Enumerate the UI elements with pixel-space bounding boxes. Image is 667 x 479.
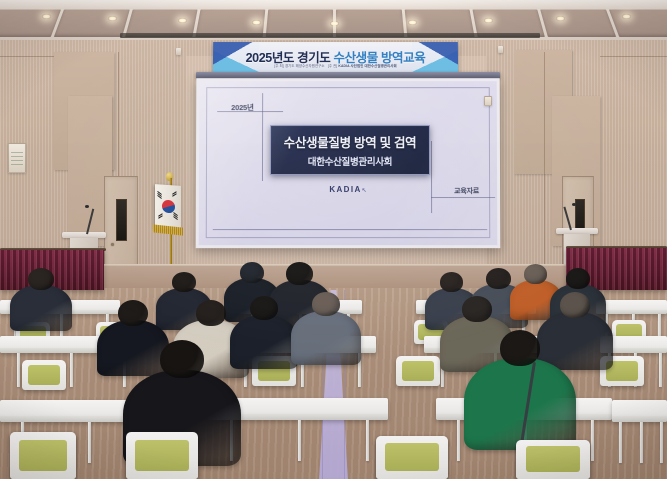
downlight-4	[252, 20, 261, 25]
attendee-head	[160, 340, 204, 378]
downlight-2	[108, 16, 117, 21]
desk-leg	[298, 420, 301, 461]
attendee-head	[524, 264, 547, 284]
attendee-torso	[230, 315, 298, 369]
desk-leg	[640, 422, 643, 463]
attendee-head	[172, 272, 196, 292]
wall-switch-right[interactable]	[484, 96, 492, 106]
chair-seat-pad	[19, 440, 68, 471]
ceiling-soffit	[0, 0, 667, 9]
attendee-head	[486, 268, 511, 289]
attendee-head	[240, 262, 264, 283]
downlight-8	[556, 16, 565, 21]
banner-host-label: [주 최]	[274, 64, 284, 68]
banner-organizer-value: KADIA 사단법인 대한수산질병관리사회	[338, 64, 396, 68]
desk-leg	[660, 422, 663, 463]
projection-screen: 2025년 교육자료 수산생물질병 방역 및 검역 대한수산질병관리사회 KAD…	[196, 78, 501, 248]
attendee-torso	[10, 285, 72, 331]
desk	[612, 400, 667, 422]
seminar-room-photo: 2025년도 경기도 수산생물 방역교육 [주 최] 경기도 해양수산자원연구소…	[0, 0, 667, 479]
kadia-logo: KADIA↖	[199, 185, 497, 194]
slide-title-box: 수산생물질병 방역 및 검역 대한수산질병관리사회	[270, 125, 430, 175]
door-left[interactable]	[104, 176, 138, 268]
desk-leg	[88, 422, 91, 463]
door-left-window	[116, 199, 127, 241]
attendee-head	[440, 272, 463, 292]
downlight-1	[42, 14, 51, 19]
chair[interactable]	[396, 356, 440, 386]
banner-organizer-label: [주 관]	[328, 64, 338, 68]
event-banner: 2025년도 경기도 수산생물 방역교육 [주 최] 경기도 해양수산자원연구소…	[213, 42, 458, 75]
south-korean-flag-taegukgi	[155, 184, 181, 230]
desk-leg	[619, 422, 622, 463]
downlight-7	[484, 18, 493, 23]
chair[interactable]	[22, 360, 66, 390]
downlight-3	[178, 18, 187, 23]
projected-slide: 2025년 교육자료 수산생물질병 방역 및 검역 대한수산질병관리사회 KAD…	[199, 81, 498, 245]
microphone-left-head	[85, 205, 89, 208]
slide-organization: 대한수산질병관리사회	[308, 154, 392, 168]
desk-leg	[70, 353, 73, 387]
banner-subtitle: [주 최] 경기도 해양수산자원연구소 [주 관] KADIA 사단법인 대한수…	[213, 63, 458, 68]
kadia-logo-text: KADIA	[329, 185, 361, 194]
attendee-torso	[97, 320, 169, 376]
chair[interactable]	[376, 436, 448, 479]
attendee-head	[118, 300, 148, 326]
chair[interactable]	[126, 432, 198, 479]
downlight-5	[330, 21, 339, 26]
attendee-head	[560, 292, 590, 318]
kadia-logo-mark: ↖	[362, 188, 367, 194]
attendee-head	[566, 268, 590, 289]
chair[interactable]	[10, 432, 76, 479]
slide-title: 수산생물질병 방역 및 검역	[284, 132, 417, 151]
chair-seat-pad	[135, 440, 188, 471]
desk-leg	[366, 420, 369, 461]
desk-leg	[17, 353, 20, 387]
microphone-right-head	[572, 203, 576, 206]
door-left-knob[interactable]	[111, 243, 114, 246]
attendee-head	[286, 262, 313, 285]
desk-leg	[659, 353, 662, 387]
downlight-9	[622, 14, 631, 19]
attendee-head	[500, 330, 540, 366]
desk	[596, 300, 667, 314]
attendee-head	[250, 296, 278, 320]
chair-seat-pad	[402, 361, 435, 381]
downlight-6	[408, 20, 417, 25]
slide-year-label: 2025년	[231, 102, 254, 113]
ceiling-beam	[120, 33, 540, 38]
desk-leg	[457, 420, 460, 461]
ceiling-speaker-left	[176, 48, 181, 55]
ceiling-speaker-right	[498, 46, 503, 53]
attendee-head	[462, 296, 492, 322]
chair[interactable]	[516, 440, 590, 479]
attendee-head	[312, 292, 340, 316]
chair-seat-pad	[526, 446, 581, 472]
attendee-torso	[464, 358, 576, 450]
attendee-torso	[537, 312, 613, 370]
attendee-torso	[291, 311, 361, 365]
wall-speaker-left	[8, 143, 26, 173]
chair-seat-pad	[385, 443, 438, 471]
attendee-head	[196, 300, 226, 326]
banner-host-value: 경기도 해양수산자원연구소	[285, 64, 325, 68]
desk-leg	[591, 420, 594, 461]
attendee-head	[28, 268, 54, 290]
chair-seat-pad	[28, 365, 61, 385]
